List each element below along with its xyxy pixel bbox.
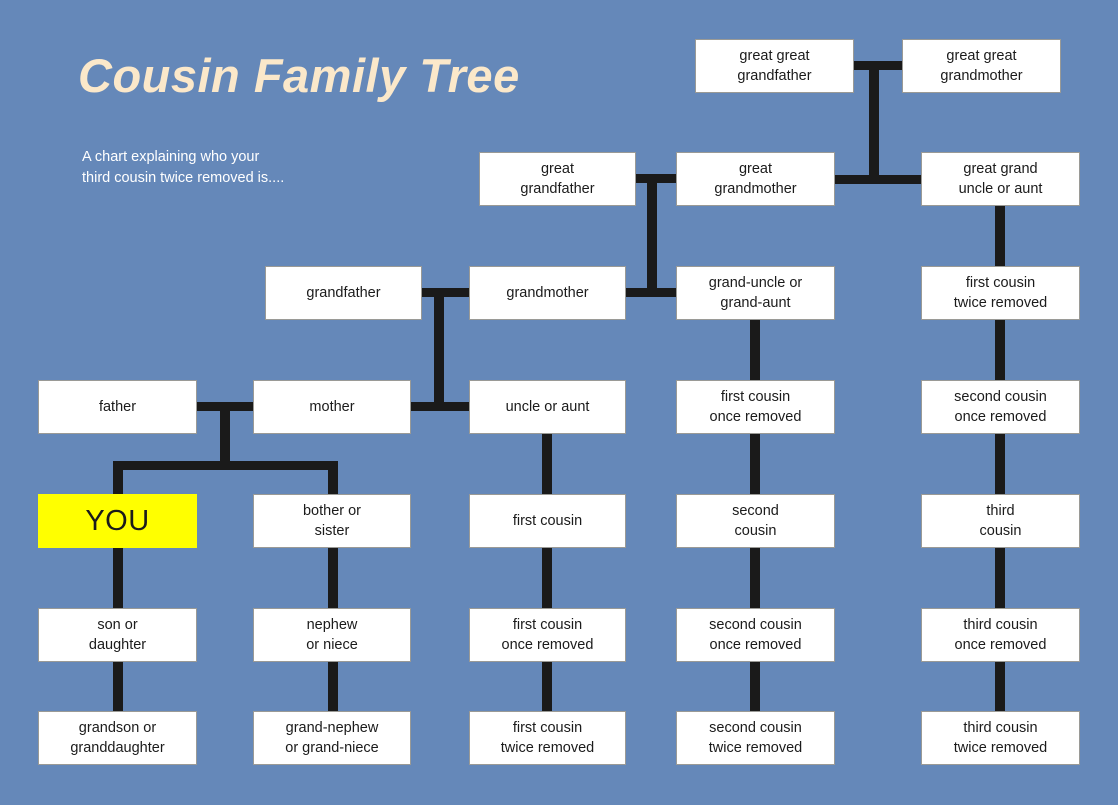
node-grand-nephew-or-grand-niece[interactable]: grand-nephew or grand-niece — [253, 711, 411, 765]
connector-gf-gm-descent-line — [647, 174, 657, 297]
connector-siblings-bar — [113, 461, 338, 470]
node-first-cousin-twice-removed[interactable]: first cousin twice removed — [469, 711, 626, 765]
node-third-cousin-twice-removed[interactable]: third cousin twice removed — [921, 711, 1080, 765]
connector-parents-descent-line — [220, 402, 230, 465]
connector-col4-drop-2 — [750, 428, 760, 500]
node-mother[interactable]: mother — [253, 380, 411, 434]
connector-col3-drop-2 — [542, 542, 552, 614]
connector-sibling-drop-lower — [328, 655, 338, 715]
node-father[interactable]: father — [38, 380, 197, 434]
family-tree-canvas: Cousin Family Tree A chart explaining wh… — [0, 0, 1118, 805]
connector-ggf-ggm-descent-line — [869, 61, 879, 184]
connector-col4-drop-4 — [750, 656, 760, 717]
node-third-cousin-once-removed[interactable]: third cousin once removed — [921, 608, 1080, 662]
node-grandfather[interactable]: grandfather — [265, 266, 422, 320]
connector-gp-children-bar — [408, 402, 471, 411]
page-subtitle: A chart explaining who your third cousin… — [82, 147, 284, 189]
node-second-cousin-twice-removed[interactable]: second cousin twice removed — [676, 711, 835, 765]
connector-gp-spouse-bar — [420, 288, 471, 297]
node-grand-uncle-aunt[interactable]: grand-uncle or grand-aunt — [676, 266, 835, 320]
node-brother-or-sister[interactable]: bother or sister — [253, 494, 411, 548]
connector-col4-drop-3 — [750, 542, 760, 614]
connector-grand-uncle-drop — [750, 314, 760, 386]
node-nephew-or-niece[interactable]: nephew or niece — [253, 608, 411, 662]
node-you[interactable]: YOU — [38, 494, 197, 548]
node-grandmother[interactable]: grandmother — [469, 266, 626, 320]
node-great-grandfather[interactable]: great grandfather — [479, 152, 636, 206]
connector-col5-drop-2 — [995, 428, 1005, 500]
node-first-cousin-once-removed-up[interactable]: first cousin once removed — [676, 380, 835, 434]
connector-gp-descent-line — [434, 288, 444, 411]
node-great-grand-uncle-aunt[interactable]: great grand uncle or aunt — [921, 152, 1080, 206]
connector-col5-drop-4 — [995, 656, 1005, 717]
connector-col5-drop-1 — [995, 314, 1005, 386]
page-title: Cousin Family Tree — [78, 48, 520, 103]
node-great-great-grandfather[interactable]: great great grandfather — [695, 39, 854, 93]
connector-gg-children-bar — [833, 175, 923, 184]
node-second-cousin-once-removed-dn[interactable]: second cousin once removed — [676, 608, 835, 662]
node-third-cousin[interactable]: third cousin — [921, 494, 1080, 548]
node-uncle-or-aunt[interactable]: uncle or aunt — [469, 380, 626, 434]
connector-uncle-aunt-drop — [542, 428, 552, 500]
node-first-cousin[interactable]: first cousin — [469, 494, 626, 548]
connector-great-grand-uncle-drop — [995, 200, 1005, 272]
connector-you-drop-lower — [113, 655, 123, 715]
node-great-grandmother[interactable]: great grandmother — [676, 152, 835, 206]
node-son-or-daughter[interactable]: son or daughter — [38, 608, 197, 662]
connector-col5-drop-3 — [995, 542, 1005, 614]
node-great-great-grandmother[interactable]: great great grandmother — [902, 39, 1061, 93]
connector-g-children-bar — [618, 288, 678, 297]
node-first-cousin-once-removed-dn[interactable]: first cousin once removed — [469, 608, 626, 662]
node-second-cousin[interactable]: second cousin — [676, 494, 835, 548]
node-second-cousin-once-removed-up[interactable]: second cousin once removed — [921, 380, 1080, 434]
node-first-cousin-twice-removed-r[interactable]: first cousin twice removed — [921, 266, 1080, 320]
node-grandson-or-granddaughter[interactable]: grandson or granddaughter — [38, 711, 197, 765]
connector-col3-drop-3 — [542, 656, 552, 717]
